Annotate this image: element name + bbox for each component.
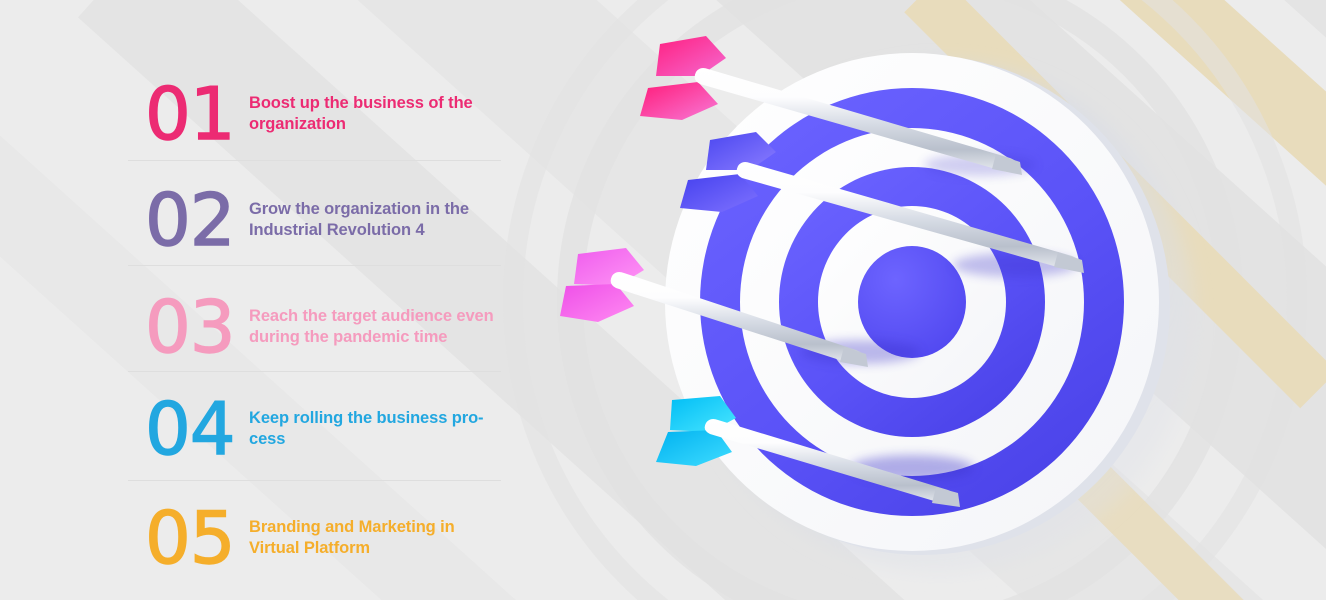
list-item-text: Grow the organization in the Industrial … [232,199,499,241]
list-item-03[interactable]: 03 Reach the target audience even during… [128,291,502,363]
list-item-number: 01 [128,78,232,150]
objectives-list: 01 Boost up the business of the organiza… [128,0,502,600]
list-item-text: Reach the target audience even during th… [232,306,499,348]
list-item-text: Boost up the business of the organizatio… [232,93,499,135]
list-item-text: Keep rolling the business pro-cess [232,408,499,450]
list-item-01[interactable]: 01 Boost up the business of the organiza… [128,78,502,150]
list-item-number: 02 [128,184,232,256]
list-separator [128,265,501,266]
infographic-canvas: 01 Boost up the business of the organiza… [0,0,1326,600]
arrow-pink-fletch-top [656,36,726,76]
list-separator [128,480,501,481]
list-separator [128,371,501,372]
list-item-number: 05 [128,502,232,574]
list-separator [128,160,501,161]
arrow-pink-fletch-bottom [640,82,718,120]
list-item-05[interactable]: 05 Branding and Marketing in Virtual Pla… [128,502,502,574]
list-item-04[interactable]: 04 Keep rolling the business pro-cess [128,393,502,465]
dartboard-illustration [560,0,1320,600]
list-item-text: Branding and Marketing in Virtual Platfo… [232,517,499,559]
list-item-number: 04 [128,393,232,465]
list-item-number: 03 [128,291,232,363]
list-item-02[interactable]: 02 Grow the organization in the Industri… [128,184,502,256]
